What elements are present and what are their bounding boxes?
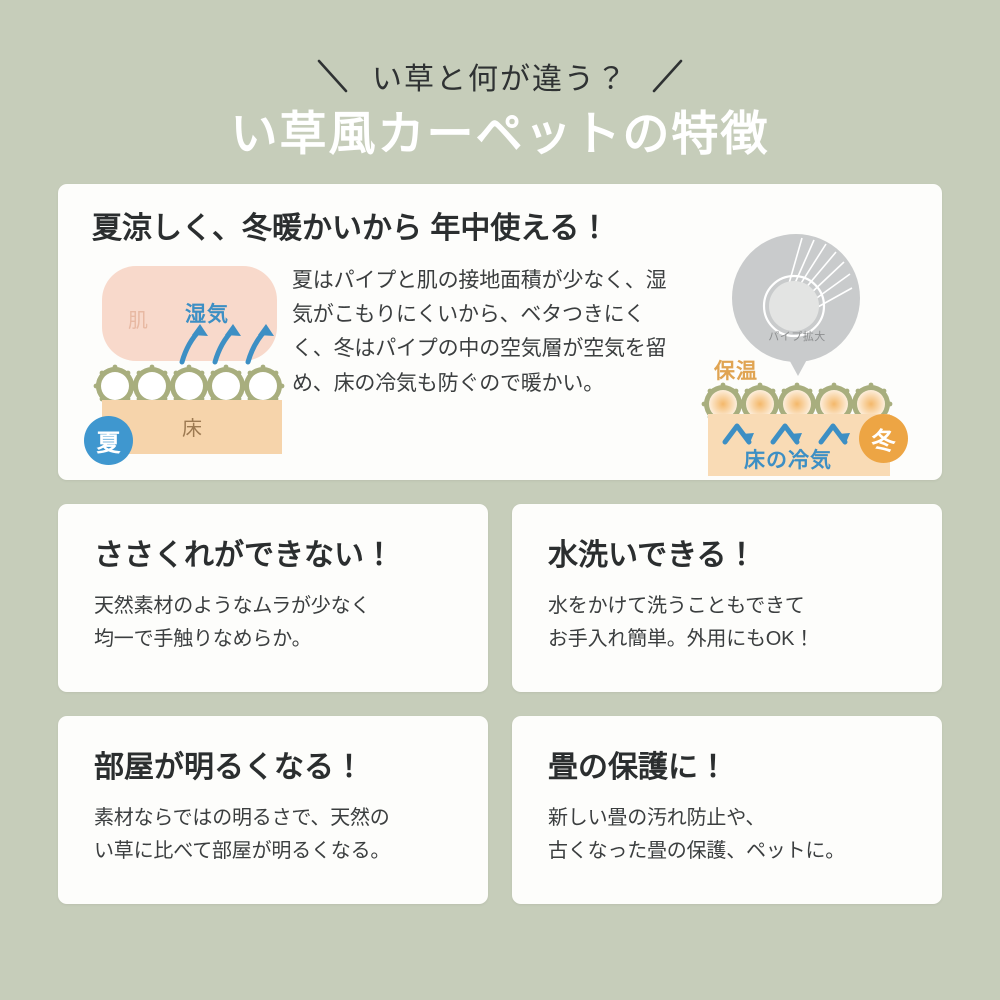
winter-badge: 冬 [859, 414, 908, 463]
page-subtitle: い草と何が違う？ [372, 54, 628, 98]
page-title: い草風カーペットの特徴 [0, 106, 1000, 162]
feature-body-line2: 古くなった畳の保護、ペットに。 [548, 835, 912, 868]
feature-body-line1: 素材ならではの明るさで、天然の [94, 802, 458, 835]
subtitle-row: い草と何が違う？ [0, 52, 1000, 100]
feature-card-splinter-free: ささくれができない！ 天然素材のようなムラが少なく 均一で手触りなめらか。 [58, 504, 488, 692]
feature-body-line1: 新しい畳の汚れ防止や、 [548, 802, 912, 835]
page-header: い草と何が違う？ い草風カーペットの特徴 [0, 0, 1000, 162]
feature-body: 水をかけて洗うこともできて お手入れ簡単。外用にもOK！ [548, 590, 912, 656]
winter-diagram: パイプ拡大 保温 [690, 262, 904, 477]
feature-card-brighter-room: 部屋が明るくなる！ 素材ならではの明るさで、天然の い草に比べて部屋が明るくなる… [58, 716, 488, 904]
feature-heading: 畳の保護に！ [548, 750, 912, 786]
feature-heading: 部屋が明るくなる！ [94, 750, 458, 786]
feature-body: 天然素材のようなムラが少なく 均一で手触りなめらか。 [94, 590, 458, 656]
magnifier-pointer-icon [786, 354, 810, 376]
warm-label: 保温 [714, 355, 758, 385]
feature-body-line2: い草に比べて部屋が明るくなる。 [94, 835, 458, 868]
feature-body-line1: 水をかけて洗うこともできて [548, 590, 912, 623]
feature-body-line1: 天然素材のようなムラが少なく [94, 590, 458, 623]
cold-air-label: 床の冷気 [708, 444, 868, 474]
hero-body: 肌 湿気 [84, 262, 916, 477]
slash-right-icon [650, 57, 684, 95]
feature-grid: ささくれができない！ 天然素材のようなムラが少なく 均一で手触りなめらか。 水洗… [58, 504, 942, 904]
hero-feature-card: 夏涼しく、冬暖かいから 年中使える！ 肌 湿気 [58, 184, 942, 480]
skin-label: 肌 [128, 304, 148, 333]
feature-body: 新しい畳の汚れ防止や、 古くなった畳の保護、ペットに。 [548, 802, 912, 868]
feature-card-tatami-protection: 畳の保護に！ 新しい畳の汚れ防止や、 古くなった畳の保護、ペットに。 [512, 716, 942, 904]
feature-heading: ささくれができない！ [94, 538, 458, 574]
feature-heading: 水洗いできる！ [548, 538, 912, 574]
feature-body-line2: お手入れ簡単。外用にもOK！ [548, 623, 912, 656]
feature-card-washable: 水洗いできる！ 水をかけて洗うこともできて お手入れ簡単。外用にもOK！ [512, 504, 942, 692]
cards-container: 夏涼しく、冬暖かいから 年中使える！ 肌 湿気 [0, 184, 1000, 904]
summer-diagram: 肌 湿気 [84, 262, 292, 477]
hero-paragraph: 夏はパイプと肌の接地面積が少なく、湿気がこもりにくいから、ベタつきにくく、冬はパ… [292, 262, 684, 477]
pipe-magnifier-label: パイプ拡大 [758, 328, 836, 344]
slash-left-icon [316, 57, 350, 95]
feature-body: 素材ならではの明るさで、天然の い草に比べて部屋が明るくなる。 [94, 802, 458, 868]
summer-badge: 夏 [84, 416, 133, 465]
feature-body-line2: 均一で手触りなめらか。 [94, 623, 458, 656]
